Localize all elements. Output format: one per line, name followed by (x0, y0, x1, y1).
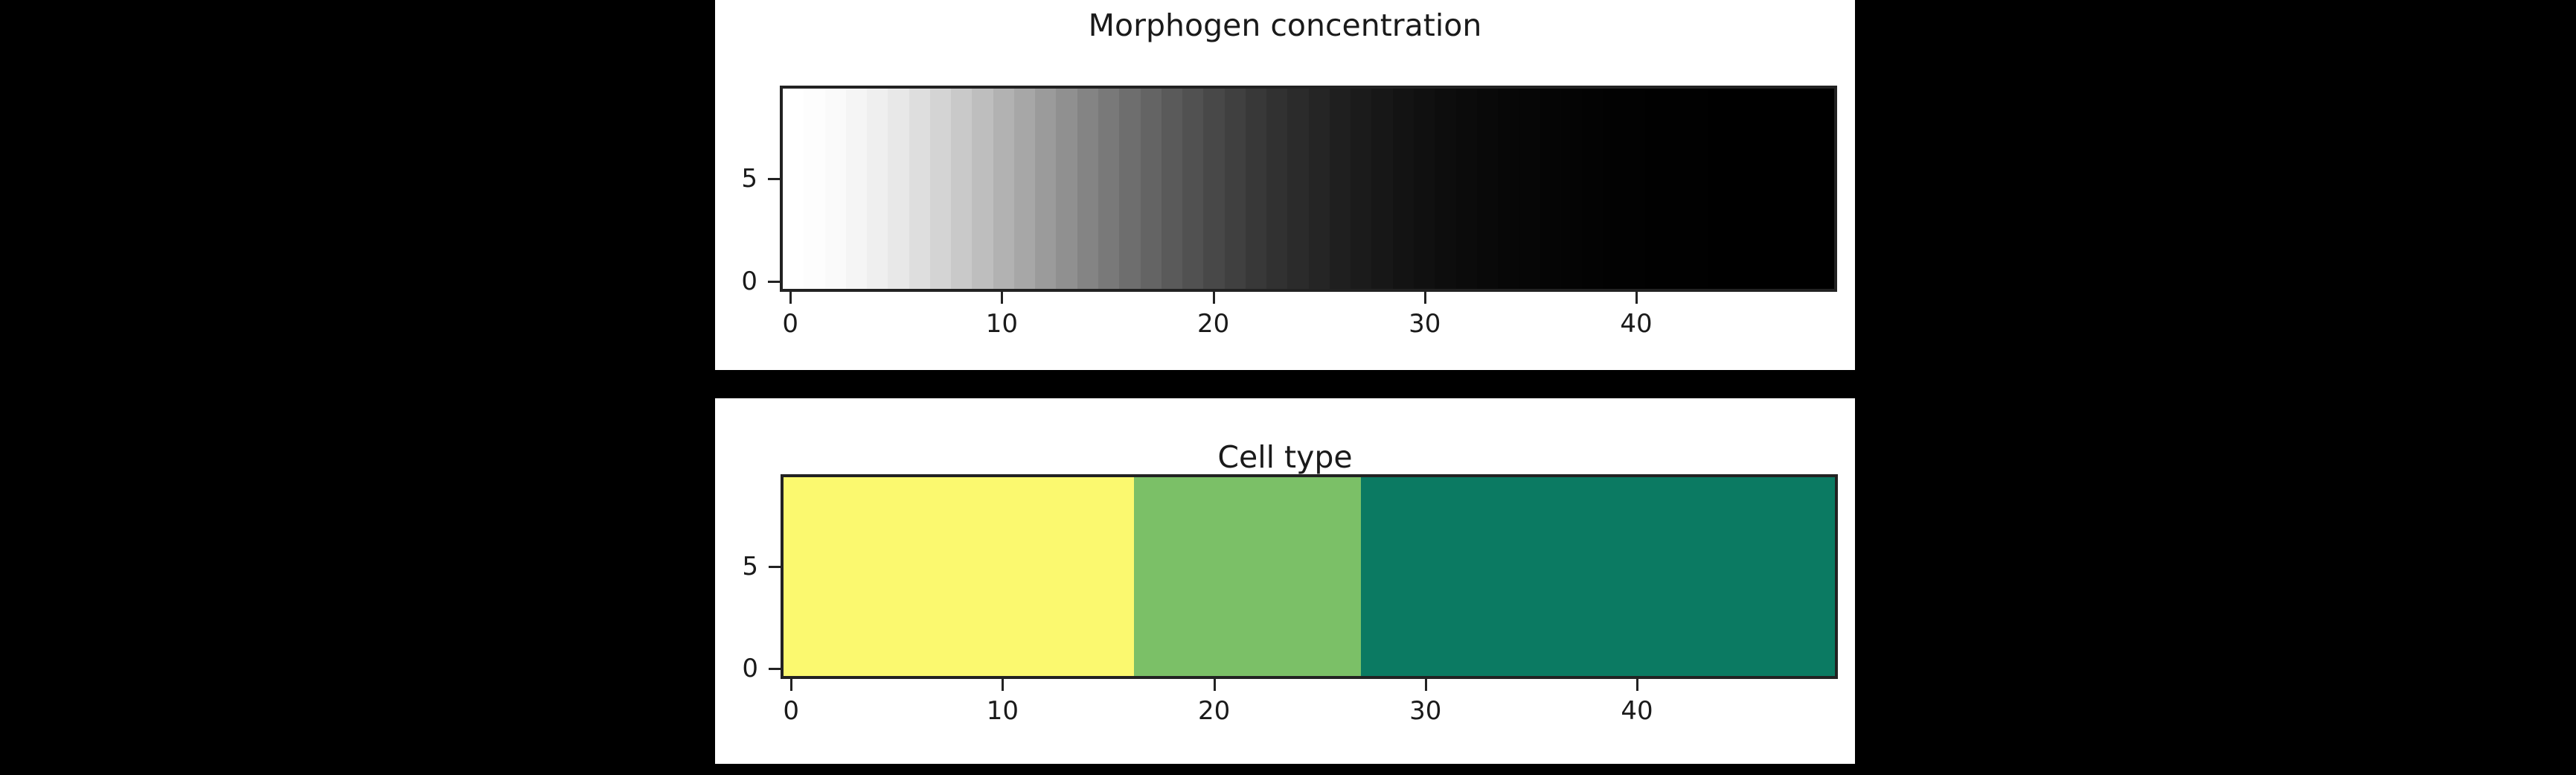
morphogen-column (1645, 89, 1666, 289)
celltype-column (866, 477, 887, 676)
morphogen-column (846, 89, 867, 289)
celltype-column (1444, 477, 1464, 676)
morphogen-column (1792, 89, 1813, 289)
morphogen-column (1098, 89, 1119, 289)
morphogen-xtick-label: 0 (782, 311, 798, 337)
morphogen-column (1182, 89, 1203, 289)
celltype-xtick-label: 40 (1621, 698, 1653, 724)
morphogen-column (1435, 89, 1455, 289)
morphogen-column (1203, 89, 1224, 289)
morphogen-title: Morphogen concentration (715, 9, 1855, 42)
figure-canvas: Morphogen concentration 01020304005 Cell… (0, 0, 2576, 775)
celltype-column (1711, 477, 1732, 676)
morphogen-column (1771, 89, 1792, 289)
morphogen-column (1456, 89, 1477, 289)
morphogen-column (1035, 89, 1056, 289)
celltype-xtick-label: 0 (783, 698, 799, 724)
morphogen-ytick-mark (768, 178, 780, 180)
celltype-figure-panel: Cell type 01020304005 (715, 398, 1855, 764)
morphogen-column (1246, 89, 1266, 289)
celltype-column (1731, 477, 1752, 676)
celltype-column (1051, 477, 1072, 676)
morphogen-column (1287, 89, 1308, 289)
celltype-xtick-mark (1636, 679, 1638, 691)
celltype-xtick-mark (1214, 679, 1216, 691)
morphogen-heatmap-cells (783, 89, 1834, 289)
morphogen-column (1540, 89, 1561, 289)
morphogen-ytick-label: 5 (705, 166, 757, 191)
morphogen-xtick-mark (1424, 292, 1426, 304)
celltype-column (1752, 477, 1773, 676)
celltype-ytick-label: 0 (706, 656, 758, 681)
morphogen-column (1266, 89, 1287, 289)
celltype-ytick-mark (769, 668, 781, 670)
celltype-column (1773, 477, 1794, 676)
celltype-column (1525, 477, 1546, 676)
morphogen-column (951, 89, 972, 289)
celltype-column (824, 477, 845, 676)
morphogen-column (1729, 89, 1750, 289)
morphogen-xtick-mark (1635, 292, 1638, 304)
celltype-heatmap-cells (784, 477, 1835, 676)
morphogen-column (1603, 89, 1624, 289)
celltype-ytick-label: 5 (706, 554, 758, 579)
celltype-column (1319, 477, 1340, 676)
celltype-column (1134, 477, 1155, 676)
celltype-column (1381, 477, 1402, 676)
celltype-column (1196, 477, 1217, 676)
morphogen-column (1141, 89, 1162, 289)
morphogen-column (1519, 89, 1539, 289)
morphogen-axes (780, 86, 1837, 292)
morphogen-xtick-label: 30 (1409, 311, 1441, 337)
morphogen-ytick-mark (768, 281, 780, 283)
celltype-column (845, 477, 866, 676)
celltype-ytick-mark (769, 566, 781, 568)
celltype-column (1299, 477, 1320, 676)
morphogen-column (1056, 89, 1077, 289)
celltype-column (1072, 477, 1093, 676)
morphogen-xtick-label: 10 (986, 311, 1018, 337)
morphogen-xtick-mark (1001, 292, 1003, 304)
celltype-column (1010, 477, 1031, 676)
celltype-column (1402, 477, 1423, 676)
morphogen-column (993, 89, 1014, 289)
celltype-column (1650, 477, 1670, 676)
morphogen-column (1119, 89, 1140, 289)
morphogen-column (1393, 89, 1414, 289)
morphogen-column (1498, 89, 1519, 289)
celltype-column (887, 477, 908, 676)
celltype-column (1093, 477, 1114, 676)
celltype-column (1237, 477, 1257, 676)
celltype-axes (781, 474, 1838, 679)
morphogen-column (1666, 89, 1687, 289)
celltype-column (1587, 477, 1608, 676)
celltype-column (1361, 477, 1382, 676)
celltype-column (1175, 477, 1196, 676)
morphogen-column (804, 89, 824, 289)
morphogen-xtick-mark (1213, 292, 1215, 304)
celltype-column (1031, 477, 1051, 676)
morphogen-column (1582, 89, 1603, 289)
celltype-column (784, 477, 804, 676)
morphogen-column (909, 89, 930, 289)
morphogen-column (1225, 89, 1246, 289)
morphogen-column (1077, 89, 1098, 289)
morphogen-column (1687, 89, 1708, 289)
morphogen-column (1813, 89, 1834, 289)
morphogen-column (1750, 89, 1771, 289)
celltype-column (990, 477, 1010, 676)
celltype-column (1546, 477, 1567, 676)
morphogen-column (867, 89, 888, 289)
celltype-column (804, 477, 825, 676)
celltype-column (1670, 477, 1691, 676)
morphogen-figure-panel: Morphogen concentration 01020304005 (715, 0, 1855, 370)
celltype-column (1113, 477, 1134, 676)
celltype-column (1567, 477, 1588, 676)
morphogen-column (1624, 89, 1645, 289)
celltype-column (1217, 477, 1237, 676)
celltype-column (1464, 477, 1484, 676)
celltype-xtick-mark (1002, 679, 1004, 691)
celltype-column (1423, 477, 1444, 676)
celltype-column (928, 477, 949, 676)
morphogen-column (930, 89, 951, 289)
celltype-xtick-label: 20 (1198, 698, 1230, 724)
morphogen-ytick-label: 0 (705, 269, 757, 294)
celltype-column (1608, 477, 1629, 676)
morphogen-xtick-label: 20 (1197, 311, 1229, 337)
celltype-column (1340, 477, 1361, 676)
celltype-column (1793, 477, 1814, 676)
morphogen-column (1014, 89, 1035, 289)
morphogen-column (972, 89, 993, 289)
morphogen-column (1309, 89, 1330, 289)
celltype-xtick-mark (790, 679, 792, 691)
morphogen-column (1351, 89, 1371, 289)
celltype-column (907, 477, 928, 676)
morphogen-column (1330, 89, 1351, 289)
morphogen-column (825, 89, 846, 289)
celltype-column (1814, 477, 1835, 676)
morphogen-column (1162, 89, 1182, 289)
morphogen-column (1561, 89, 1582, 289)
morphogen-column (783, 89, 804, 289)
celltype-column (1278, 477, 1299, 676)
morphogen-xtick-label: 40 (1620, 311, 1652, 337)
celltype-xtick-mark (1425, 679, 1427, 691)
celltype-xtick-label: 30 (1409, 698, 1441, 724)
celltype-xtick-label: 10 (987, 698, 1019, 724)
celltype-column (1155, 477, 1176, 676)
morphogen-column (888, 89, 909, 289)
morphogen-column (1371, 89, 1392, 289)
celltype-column (1484, 477, 1505, 676)
morphogen-column (1708, 89, 1729, 289)
morphogen-xtick-mark (789, 292, 792, 304)
celltype-title: Cell type (715, 441, 1855, 473)
celltype-column (1505, 477, 1526, 676)
celltype-column (1629, 477, 1650, 676)
morphogen-column (1477, 89, 1498, 289)
celltype-column (1691, 477, 1711, 676)
celltype-column (969, 477, 990, 676)
morphogen-column (1414, 89, 1435, 289)
celltype-column (1257, 477, 1278, 676)
celltype-column (949, 477, 970, 676)
